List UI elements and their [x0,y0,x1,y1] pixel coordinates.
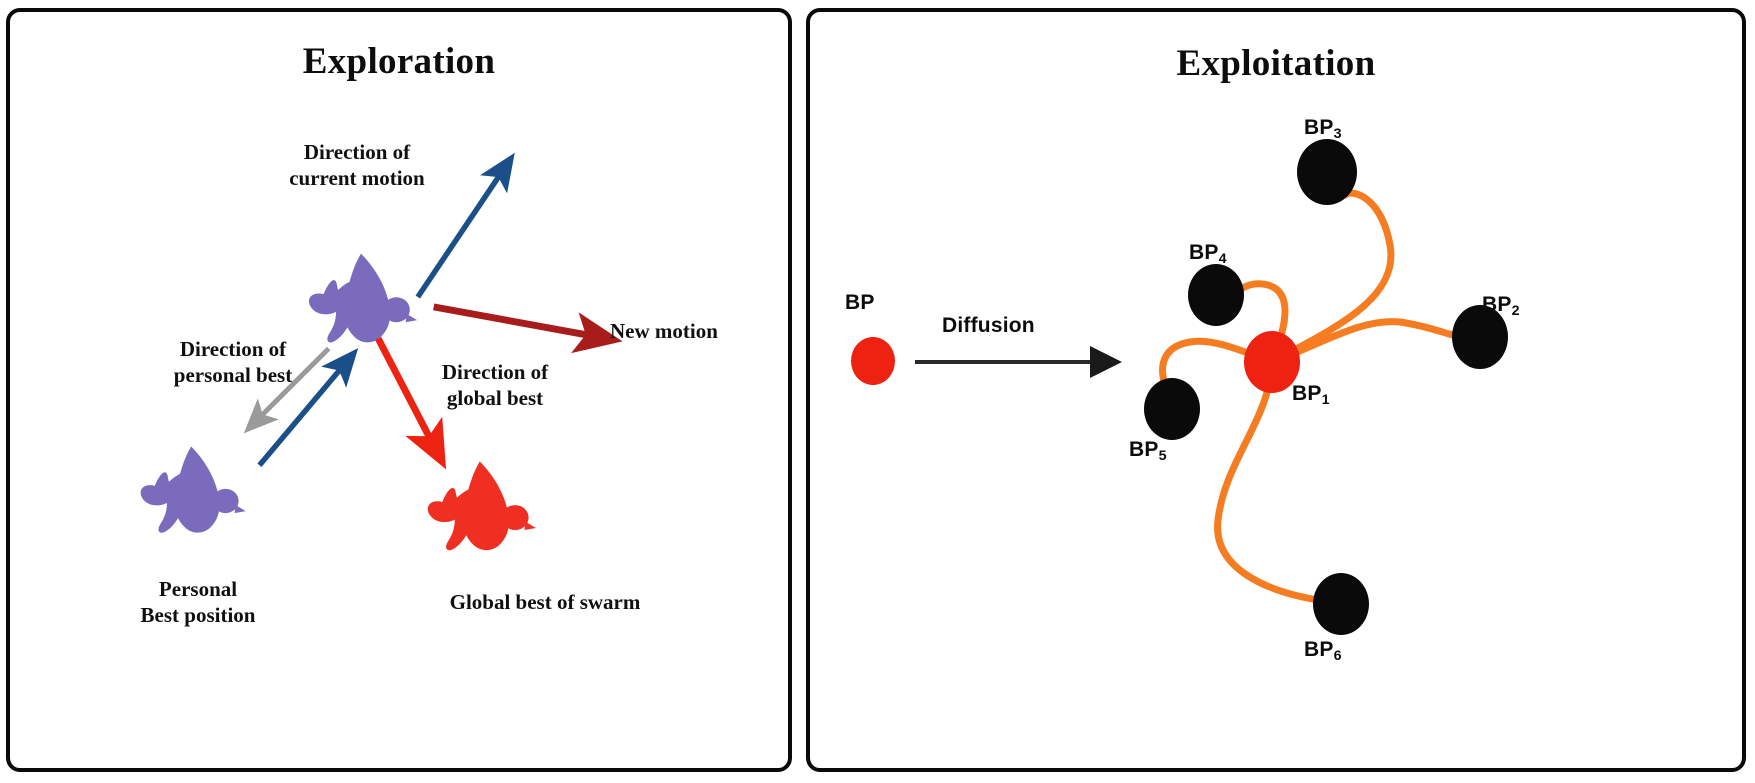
global-best-bird [428,461,536,550]
exploration-graphics [10,12,788,768]
label-bp5-base: BP [1129,438,1159,461]
exploration-panel: Exploration [6,8,792,772]
current-particle-bird [309,254,417,343]
label-bp1: BP1 [1292,381,1330,407]
label-new-motion: New motion [610,319,780,345]
label-bp3-base: BP [1304,116,1334,139]
label-bp4-sub: 4 [1219,251,1227,267]
label-global-best-of-swarm: Global best of swarm [420,590,670,616]
label-bp6: BP6 [1304,637,1342,663]
label-bp1-base: BP [1292,382,1322,405]
label-bp4: BP4 [1189,240,1227,266]
label-bp3-sub: 3 [1334,126,1342,142]
page-title-exploitation: Exploitation [810,42,1742,85]
label-bp4-base: BP [1189,241,1219,264]
label-diffusion: Diffusion [942,313,1035,339]
figure-root: Exploration [0,0,1755,783]
label-direction-global-best: Direction of global best [400,360,590,411]
new-motion-arrow [434,307,596,337]
label-bp6-sub: 6 [1334,648,1342,664]
label-bp3: BP3 [1304,115,1342,141]
label-bp6-base: BP [1304,638,1334,661]
label-bp2-sub: 2 [1512,303,1520,319]
label-bp5-sub: 5 [1159,448,1167,464]
label-direction-personal-best: Direction of personal best [128,337,338,388]
personal-best-bird [141,446,246,532]
label-bp2-base: BP [1482,293,1512,316]
label-personal-best-position: Personal Best position [103,577,293,628]
label-bp1-sub: 1 [1322,392,1330,408]
label-bp2: BP2 [1482,292,1520,318]
exploitation-panel: Exploitation [806,8,1746,772]
label-bp: BP [845,290,875,316]
label-bp5: BP5 [1129,437,1167,463]
label-direction-current-motion: Direction of current motion [257,140,457,191]
